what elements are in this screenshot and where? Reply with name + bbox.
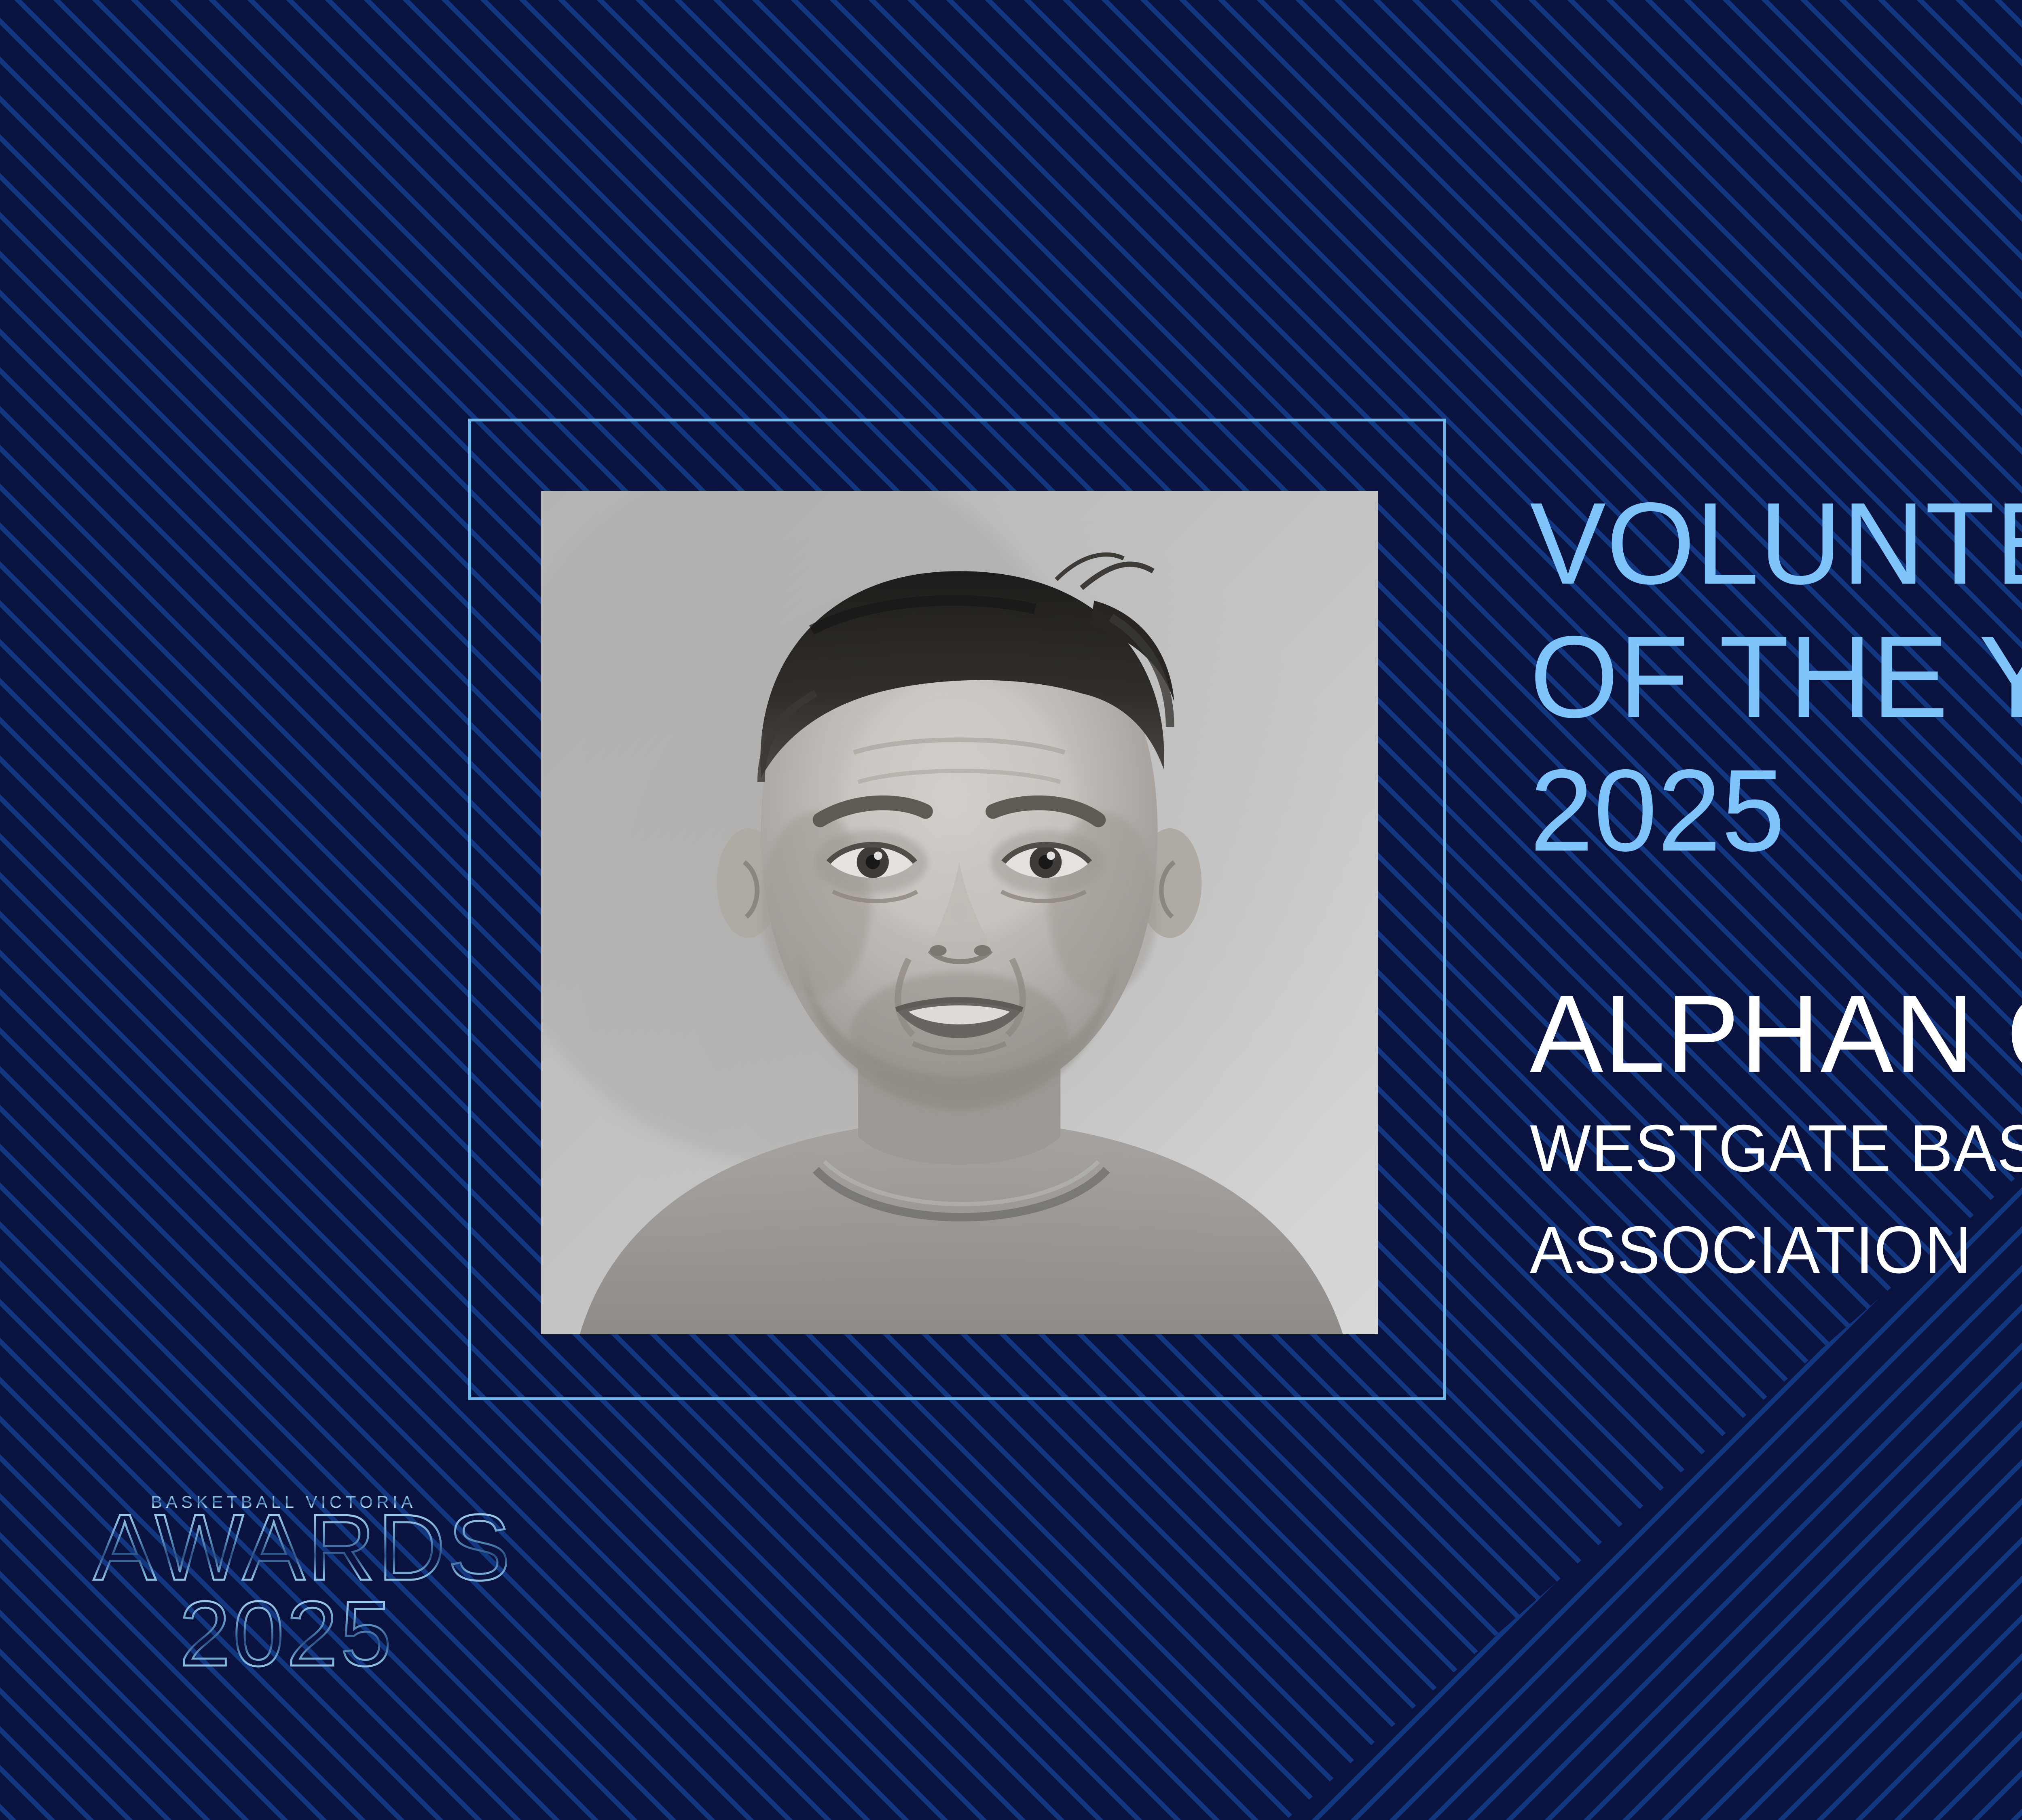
portrait-photo <box>541 491 1378 1334</box>
award-title: VOLUNTEER OF THE YEAR 2025 <box>1530 477 2022 877</box>
portrait-illustration <box>541 491 1378 1334</box>
awards-logo-svg: BASKETBALL VICTORIA AWARDS 2025 <box>91 1480 617 1723</box>
awards-logo-year: 2025 <box>179 1583 394 1685</box>
award-title-block: VOLUNTEER OF THE YEAR 2025 <box>1530 477 2022 877</box>
recipient-name: ALPHAN CULHA <box>1530 979 2022 1089</box>
recipient-organisation: WESTGATE BASKETBALL ASSOCIATION <box>1530 1098 2022 1301</box>
award-slide: VOLUNTEER OF THE YEAR 2025 ALPHAN CULHA … <box>0 0 2022 1820</box>
portrait-frame <box>468 419 1446 1400</box>
recipient-block: ALPHAN CULHA WESTGATE BASKETBALL ASSOCIA… <box>1530 979 2022 1301</box>
awards-logo: BASKETBALL VICTORIA AWARDS 2025 <box>91 1480 617 1723</box>
